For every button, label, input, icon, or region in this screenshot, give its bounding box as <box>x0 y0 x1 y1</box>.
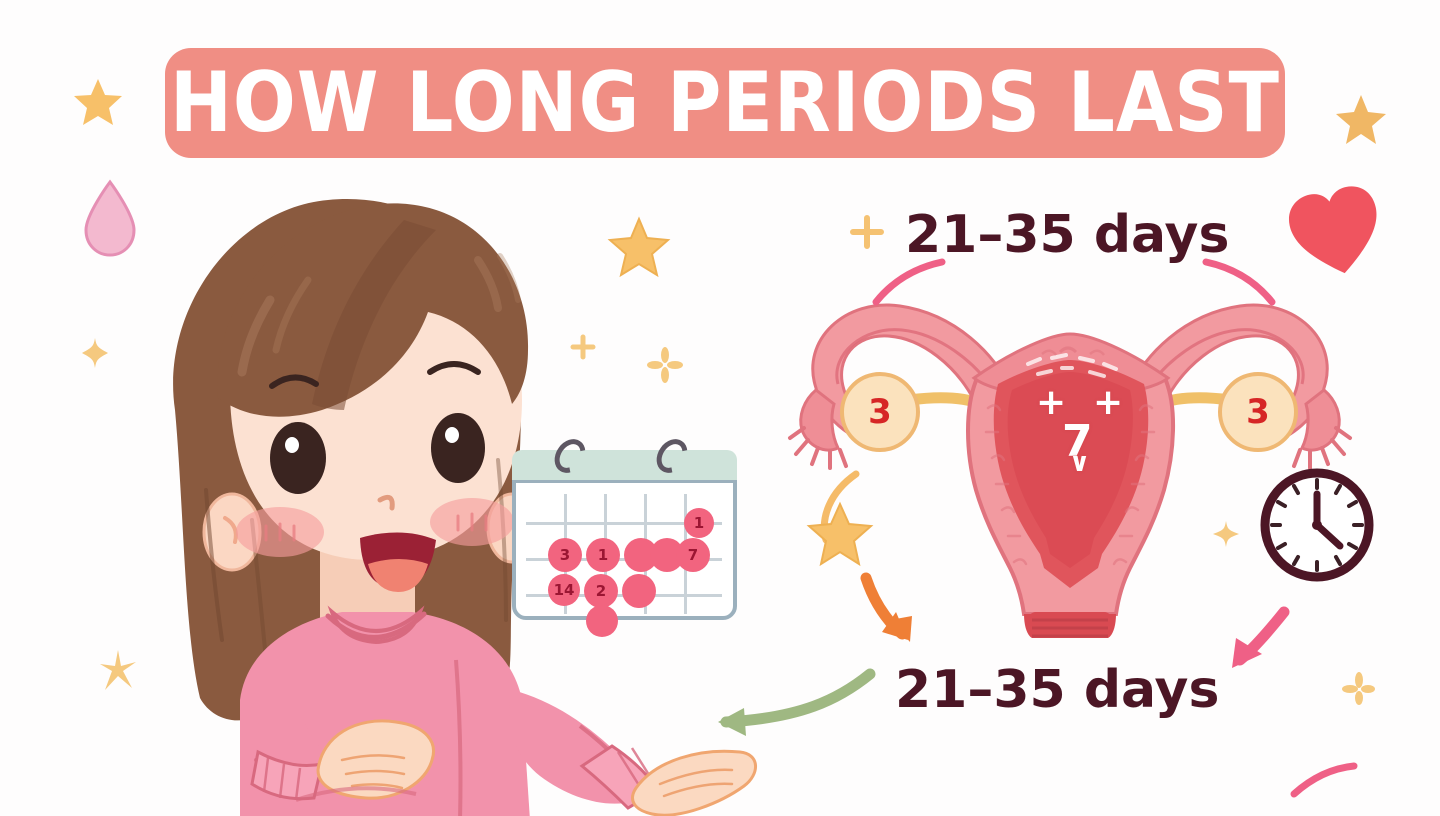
chevron-down-icon: ∨ <box>1069 450 1090 476</box>
calendar-widget: 1317142 <box>512 450 737 620</box>
ovary-badge-right: 3 <box>1218 372 1298 452</box>
arc-stroke-bottom <box>1290 760 1360 800</box>
illustration-canvas: HOW LONG PERIODS LAST <box>0 0 1440 816</box>
calendar-header-bar <box>512 450 737 483</box>
arrow-green-left <box>688 664 878 750</box>
sparkle-flower-icon-mid <box>648 348 682 382</box>
calendar-day-dot <box>586 605 618 637</box>
calendar-day-dot: 1 <box>684 508 714 538</box>
calendar-day-dot: 3 <box>548 538 582 572</box>
heart-icon <box>1288 186 1384 278</box>
star-icon-mid <box>806 500 874 568</box>
sparkle-star-icon-right <box>1212 520 1240 548</box>
page-title: HOW LONG PERIODS LAST <box>170 55 1280 151</box>
ovary-right-value: 3 <box>1246 392 1270 432</box>
ovary-badge-left: 3 <box>840 372 920 452</box>
cycle-length-label-top: 21–35 days <box>905 205 1229 265</box>
plus-icon-top-label <box>850 215 884 249</box>
star-icon-top-left <box>72 76 124 128</box>
clock-icon <box>1258 466 1376 584</box>
star-icon-upper-mid <box>608 216 670 278</box>
calendar-day-dot: 1 <box>586 538 620 572</box>
uterus-plus-icon-2: + <box>1093 385 1123 421</box>
arc-stroke-right <box>1198 258 1278 308</box>
calendar-day-dot: 14 <box>548 574 580 606</box>
calendar-day-dot <box>622 574 656 608</box>
calendar-day-dot: 7 <box>676 538 710 572</box>
cycle-length-label-bottom: 21–35 days <box>895 660 1219 720</box>
sparkle-plus-icon-mid <box>572 336 594 358</box>
arc-stroke-left <box>870 258 950 308</box>
title-banner: HOW LONG PERIODS LAST <box>165 48 1285 158</box>
star-icon-top-right <box>1334 92 1388 146</box>
ovary-left-value: 3 <box>868 392 892 432</box>
arrow-pink-down-left <box>1216 604 1316 690</box>
sparkle-flower-icon-bottom-right <box>1342 672 1376 706</box>
calendar-day-dot: 2 <box>584 574 618 608</box>
